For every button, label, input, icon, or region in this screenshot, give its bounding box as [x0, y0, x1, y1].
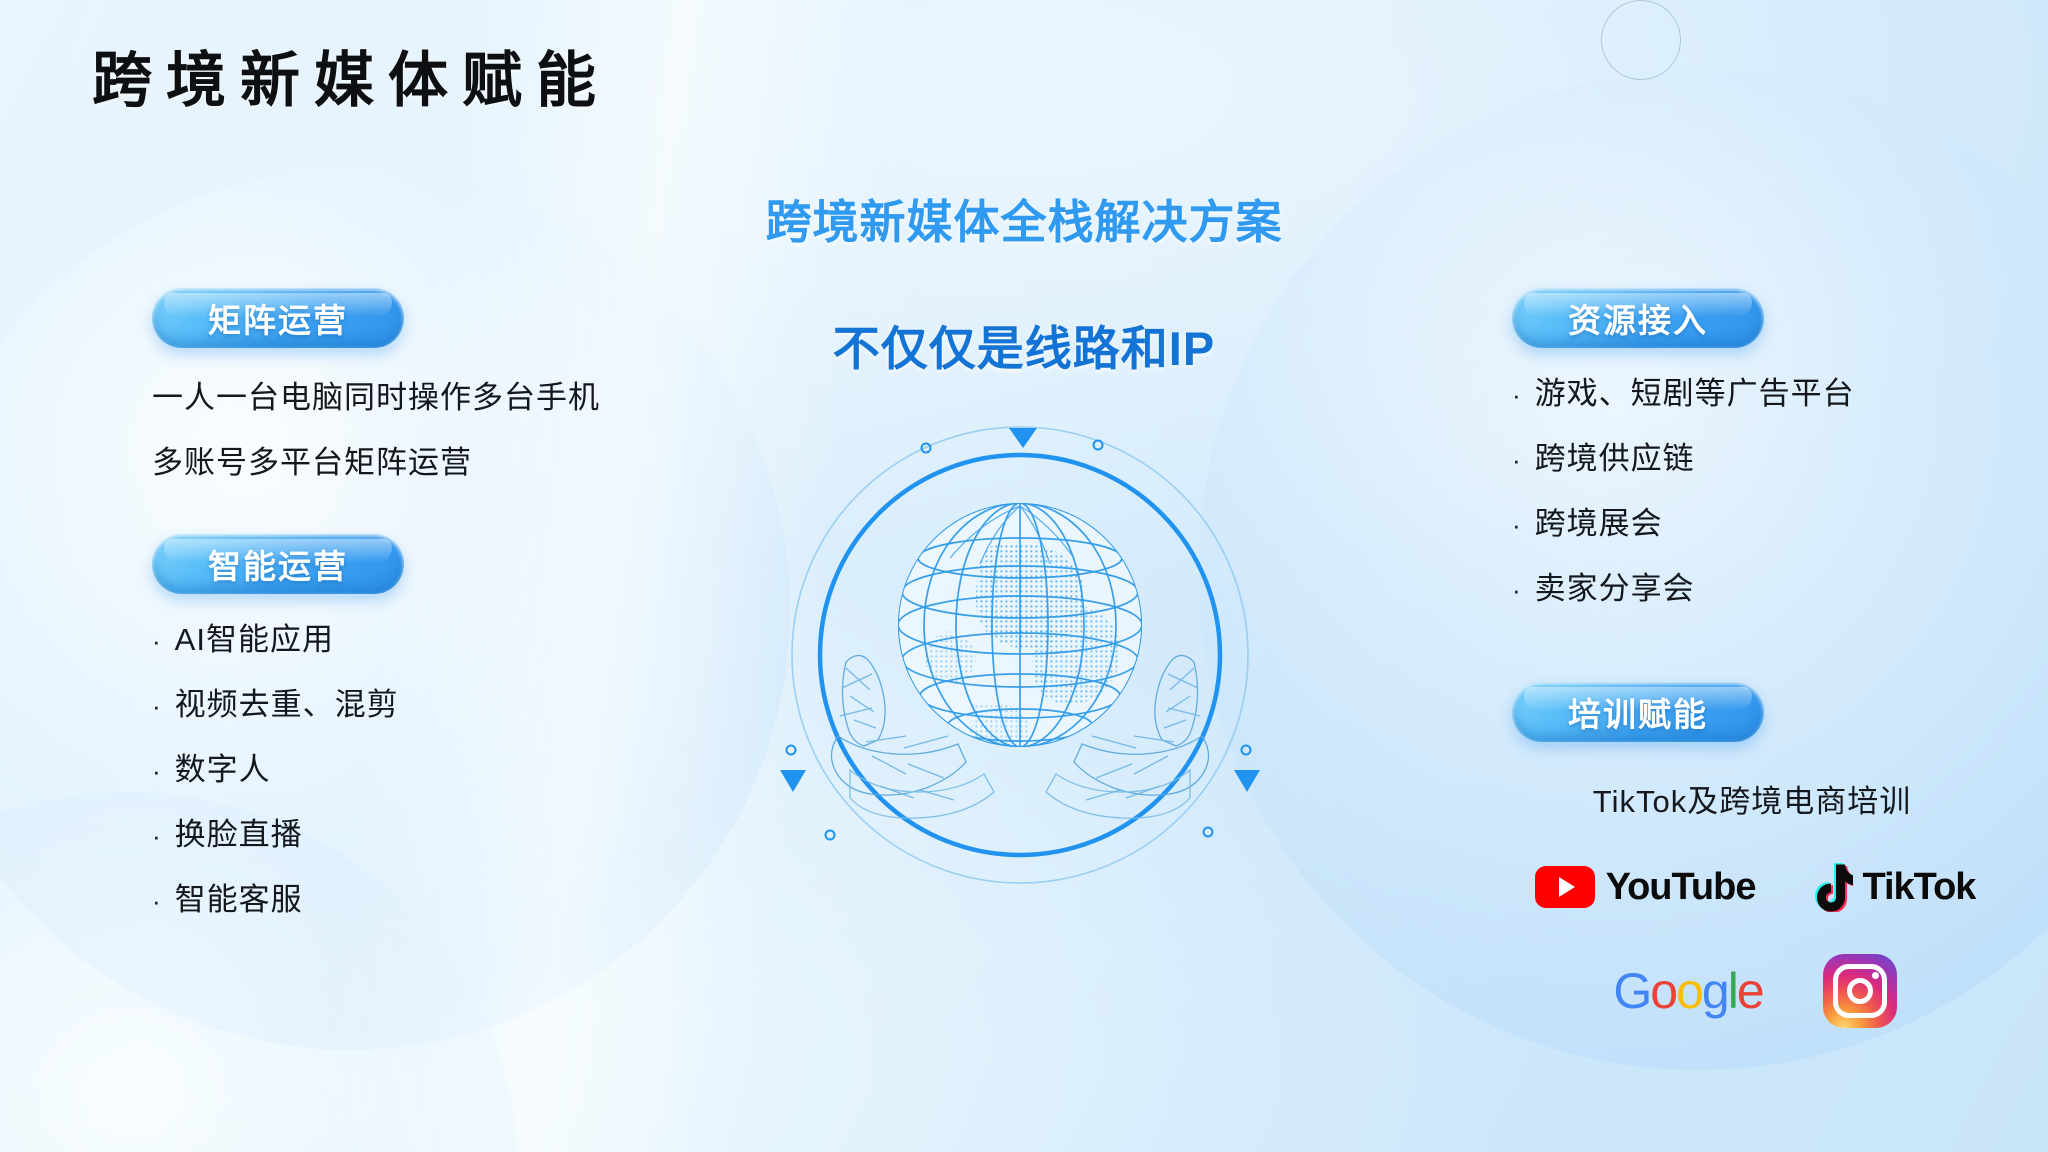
- instagram-camera-icon: [1833, 964, 1887, 1018]
- youtube-play-icon: [1535, 866, 1595, 908]
- list-item: · 跨境供应链: [1512, 443, 1992, 474]
- list-item-label: AI智能应用: [175, 624, 334, 655]
- bullet-dot-icon: ·: [152, 628, 162, 654]
- list-item: · 换脸直播: [152, 819, 852, 850]
- youtube-logo[interactable]: YouTube: [1535, 866, 1756, 909]
- bullet-dot-icon: ·: [1512, 447, 1522, 473]
- bullet-dot-icon: ·: [152, 693, 162, 719]
- matrix-line-1: 一人一台电脑同时操作多台手机: [152, 382, 852, 413]
- tiktok-logo[interactable]: TikTok: [1809, 862, 1975, 912]
- bullet-dot-icon: ·: [152, 823, 162, 849]
- list-item: · AI智能应用: [152, 624, 852, 655]
- decorative-ring-outline: [1601, 0, 1681, 80]
- youtube-logo-label: YouTube: [1606, 866, 1756, 909]
- slide-canvas: 跨境新媒体赋能 跨境新媒体全栈解决方案 不仅仅是线路和IP: [0, 0, 2048, 1152]
- spacer-right: [1512, 638, 1992, 682]
- google-letter-l: l: [1728, 963, 1737, 1019]
- pill-smart-operations[interactable]: 智能运营: [152, 534, 404, 594]
- list-item: · 视频去重、混剪: [152, 689, 852, 720]
- training-line-1: TikTok及跨境电商培训: [1512, 786, 1992, 817]
- right-column: 资源接入 · 游戏、短剧等广告平台 · 跨境供应链 · 跨境展会 · 卖家分享会: [1512, 288, 1992, 817]
- section-resource-access: 资源接入 · 游戏、短剧等广告平台 · 跨境供应链 · 跨境展会 · 卖家分享会: [1512, 288, 1992, 604]
- bullet-dot-icon: ·: [152, 758, 162, 784]
- list-item-label: 智能客服: [175, 884, 303, 915]
- pill-resource-access[interactable]: 资源接入: [1512, 288, 1764, 348]
- section-matrix-operations: 矩阵运营 一人一台电脑同时操作多台手机 多账号多平台矩阵运营: [152, 288, 852, 478]
- google-letter-o1: o: [1650, 963, 1676, 1019]
- google-letter-g: g: [1702, 963, 1728, 1019]
- bullet-dot-icon: ·: [1512, 577, 1522, 603]
- instagram-logo[interactable]: [1823, 954, 1897, 1028]
- list-item: · 智能客服: [152, 884, 852, 915]
- bullet-dot-icon: ·: [1512, 382, 1522, 408]
- matrix-line-2: 多账号多平台矩阵运营: [152, 447, 852, 478]
- page-title: 跨境新媒体赋能: [92, 48, 610, 114]
- section-training-empowerment: 培训赋能 TikTok及跨境电商培训: [1512, 682, 1992, 817]
- left-column: 矩阵运营 一人一台电脑同时操作多台手机 多账号多平台矩阵运营 智能运营 · AI…: [152, 288, 852, 949]
- pill-training-empowerment[interactable]: 培训赋能: [1512, 682, 1764, 742]
- globe-in-hands-illustration: [780, 420, 1260, 890]
- list-item-label: 卖家分享会: [1535, 573, 1695, 604]
- google-logo[interactable]: Google: [1613, 962, 1762, 1020]
- logo-row-top: YouTube TikTok: [1520, 862, 1990, 912]
- spacer-left: [152, 478, 852, 534]
- tiktok-note-icon: [1809, 862, 1853, 912]
- list-item: · 游戏、短剧等广告平台: [1512, 378, 1992, 409]
- list-item-label: 换脸直播: [175, 819, 303, 850]
- google-letter-o2: o: [1676, 963, 1702, 1019]
- list-item: · 跨境展会: [1512, 508, 1992, 539]
- logo-row-bottom: Google: [1520, 954, 1990, 1028]
- list-item-label: 数字人: [175, 754, 271, 785]
- smart-operations-list: · AI智能应用 · 视频去重、混剪 · 数字人 · 换脸直播 · 智能客服: [152, 624, 852, 915]
- list-item-label: 跨境供应链: [1535, 443, 1695, 474]
- bullet-dot-icon: ·: [1512, 512, 1522, 538]
- pill-matrix-operations[interactable]: 矩阵运营: [152, 288, 404, 348]
- center-heading-main: 跨境新媒体全栈解决方案: [0, 186, 2048, 252]
- list-item: · 卖家分享会: [1512, 573, 1992, 604]
- resource-access-list: · 游戏、短剧等广告平台 · 跨境供应链 · 跨境展会 · 卖家分享会: [1512, 378, 1992, 604]
- section-smart-operations: 智能运营 · AI智能应用 · 视频去重、混剪 · 数字人 · 换脸直播: [152, 534, 852, 915]
- partner-logos: YouTube TikTok Google: [1520, 862, 1990, 1028]
- list-item-label: 视频去重、混剪: [175, 689, 399, 720]
- list-item-label: 游戏、短剧等广告平台: [1535, 378, 1855, 409]
- google-letter-e: e: [1737, 963, 1763, 1019]
- list-item-label: 跨境展会: [1535, 508, 1663, 539]
- list-item: · 数字人: [152, 754, 852, 785]
- bullet-dot-icon: ·: [152, 888, 162, 914]
- tiktok-logo-label: TikTok: [1862, 866, 1975, 909]
- google-letter-G: G: [1613, 963, 1650, 1019]
